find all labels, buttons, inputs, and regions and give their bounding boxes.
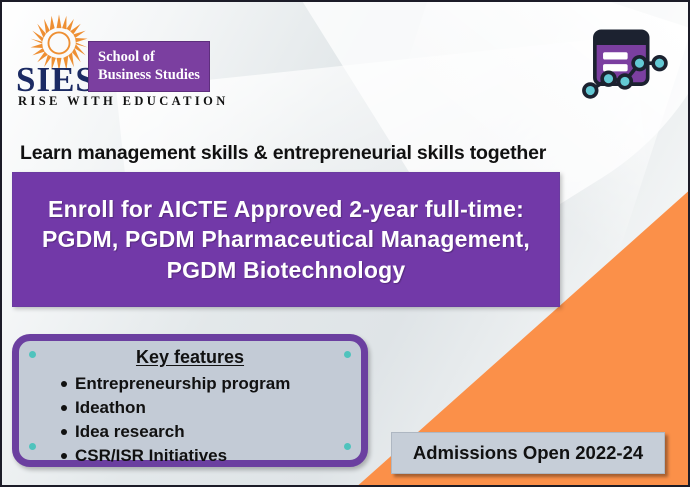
banner-line-2: PGDM, PGDM Pharmaceutical Management, [42, 224, 530, 255]
corner-dot-icon [344, 351, 351, 358]
key-features-list: Entrepreneurship program Ideathon Idea r… [19, 372, 361, 469]
school-name-line1: School of [98, 49, 209, 67]
key-features-card: Key features Entrepreneurship program Id… [12, 334, 368, 467]
poster-headline: Learn management skills & entrepreneuria… [20, 142, 546, 165]
program-banner: Enroll for AICTE Approved 2-year full-ti… [12, 172, 560, 307]
admissions-open-badge: Admissions Open 2022-24 [391, 432, 665, 474]
institute-tagline: RISE WITH EDUCATION [18, 94, 229, 109]
school-name-line2: Business Studies [98, 67, 209, 85]
key-features-title: Key features [19, 347, 361, 368]
banner-line-3: PGDM Biotechnology [167, 255, 406, 286]
corner-dot-icon [29, 443, 36, 450]
list-item: CSR/ISR Initiatives [61, 444, 361, 468]
sies-logo: SIES RISE WITH EDUCATION School of Busin… [10, 10, 220, 106]
list-item: Idea research [61, 420, 361, 444]
admissions-open-label: Admissions Open 2022-24 [413, 442, 643, 464]
school-name-box: School of Business Studies [88, 41, 210, 92]
document-line-chart-icon [578, 24, 670, 106]
list-item: Ideathon [61, 396, 361, 420]
list-item: Entrepreneurship program [61, 372, 361, 396]
corner-dot-icon [29, 351, 36, 358]
banner-line-1: Enroll for AICTE Approved 2-year full-ti… [48, 194, 524, 225]
institute-name: SIES [16, 62, 96, 97]
poster-canvas: SIES RISE WITH EDUCATION School of Busin… [0, 0, 690, 487]
